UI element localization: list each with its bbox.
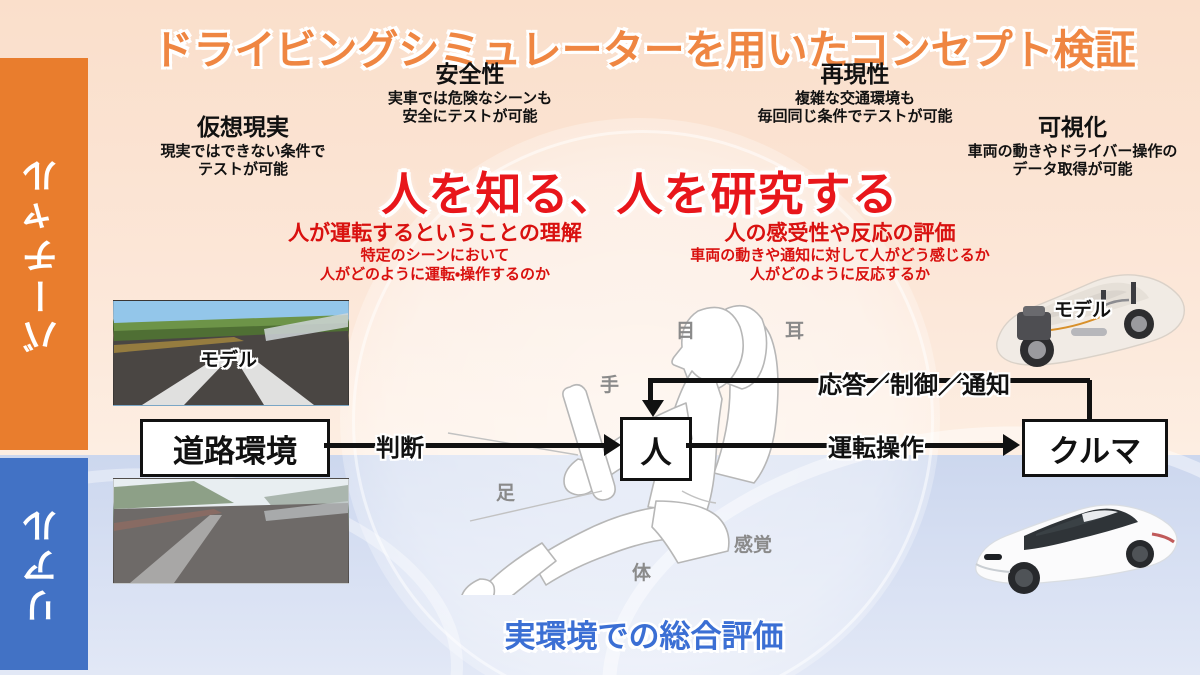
feature-line-1: 複雑な交通環境も <box>700 89 1010 108</box>
red-block-heading: 人が運転するということの理解 <box>220 221 650 246</box>
sidebar-label-virtual: バーチャル <box>18 154 70 354</box>
arrow-label-feedback: 応答／制御／通知 <box>812 365 1016 400</box>
feature-safety: 安全性 実車では危険なシーンも 安全にテストが可能 <box>330 63 610 126</box>
feature-heading: 可視化 <box>945 116 1200 142</box>
arrow-label-drive-operation: 運転操作 <box>822 428 930 463</box>
arrow-head-feedback <box>642 400 664 417</box>
feature-line-1: 車両の動きやドライバー操作の <box>945 142 1200 161</box>
feature-line-2: データ取得が可能 <box>945 160 1200 179</box>
flow-box-car[interactable]: クルマ <box>1022 419 1168 477</box>
feedback-line-vertical-left <box>648 378 653 402</box>
feature-heading: 安全性 <box>330 63 610 89</box>
feature-line-2: テストが可能 <box>128 160 358 179</box>
flow-box-road-environment[interactable]: 道路環境 <box>140 419 330 477</box>
body-label-eye: 目 <box>676 316 695 343</box>
feature-virtual-reality: 仮想現実 現実ではできない条件で テストが可能 <box>128 116 358 179</box>
body-label-sensation: 感覚 <box>734 530 772 557</box>
body-label-hand: 手 <box>600 370 619 397</box>
body-label-body: 体 <box>632 558 651 585</box>
arrow-head-drive-operation <box>1003 434 1020 456</box>
red-block-heading: 人の感受性や反応の評価 <box>630 221 1050 246</box>
real-road-image <box>113 478 349 584</box>
feature-line-2: 安全にテストが可能 <box>330 107 610 126</box>
sidebar-band-virtual: バーチャル <box>0 58 88 450</box>
sidebar-band-real: リアル <box>0 458 88 670</box>
arrow-label-judgment: 判断 <box>370 428 430 463</box>
red-block-line-2: 人がどのように運転・操作するのか <box>220 265 650 284</box>
flow-box-person[interactable]: 人 <box>620 417 692 481</box>
bottom-caption: 実環境での総合評価 <box>88 611 1200 656</box>
body-label-foot: 足 <box>496 478 515 505</box>
headline-text: 人を知る、人を研究する <box>340 158 940 224</box>
sidebar-label-real: リアル <box>18 504 70 624</box>
real-vehicle-image <box>962 492 1194 602</box>
feature-heading: 仮想現実 <box>128 116 358 142</box>
feature-heading: 再現性 <box>700 63 1010 89</box>
model-label-vehicle: モデル <box>1054 295 1111 322</box>
feedback-line-vertical-right <box>1087 380 1092 422</box>
red-block-understanding-driving: 人が運転するということの理解 特定のシーンにおいて 人がどのように運転・操作する… <box>220 221 650 285</box>
body-label-ear: 耳 <box>785 316 804 343</box>
feature-line-1: 現実ではできない条件で <box>128 142 358 161</box>
feature-visualization: 可視化 車両の動きやドライバー操作の データ取得が可能 <box>945 116 1200 179</box>
feature-line-1: 実車では危険なシーンも <box>330 89 610 108</box>
arrow-head-judgment <box>604 434 621 456</box>
slide-canvas: バーチャル リアル ドライビングシミュレーターを用いたコンセプト検証 仮想現実 … <box>0 0 1200 675</box>
red-block-line-1: 特定のシーンにおいて <box>220 246 650 265</box>
arrow-line-judgment <box>324 443 606 448</box>
page-title: ドライビングシミュレーターを用いたコンセプト検証 <box>88 16 1200 76</box>
vehicle-model-illustration <box>975 262 1190 382</box>
model-label-road: モデル <box>200 345 257 372</box>
